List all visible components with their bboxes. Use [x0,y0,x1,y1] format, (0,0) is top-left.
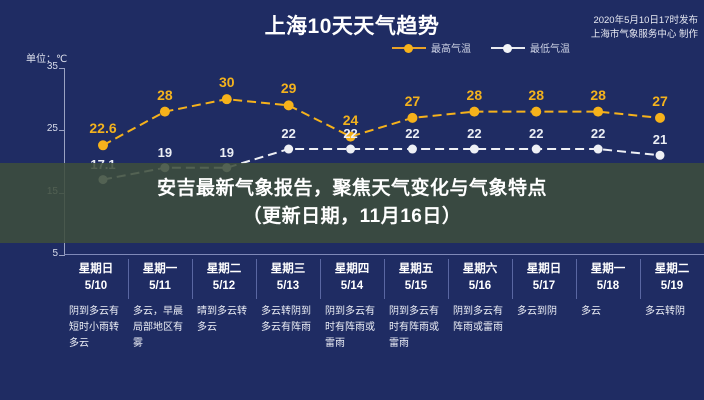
high-temp-line [103,99,660,145]
column-divider [576,259,577,299]
forecast-description: 多云转阴到多云有阵雨 [261,304,315,336]
high-temp-point [655,113,665,123]
forecast-weekday: 星期一 [133,261,187,278]
forecast-description: 多云 [581,304,635,320]
forecast-date: 5/13 [261,278,315,295]
forecast-weekday: 星期三 [261,261,315,278]
low-temp-label: 22 [343,126,357,141]
column-divider [448,259,449,299]
forecast-description: 阴到多云有短时小雨转多云 [69,304,123,352]
forecast-description: 多云，早晨局部地区有雾 [133,304,187,352]
high-temp-point [98,140,108,150]
low-temp-label: 19 [220,145,234,160]
high-temp-point [407,113,417,123]
column-divider [640,259,641,299]
high-temp-point [160,107,170,117]
forecast-description: 多云到阴 [517,304,571,320]
low-temp-label: 22 [529,126,543,141]
low-temp-point [656,151,665,160]
forecast-weekday: 星期二 [645,261,699,278]
forecast-table: 星期日5/10阴到多云有短时小雨转多云星期一5/11多云，早晨局部地区有雾星期二… [64,255,704,400]
low-temp-point [408,145,417,154]
high-temp-point [469,107,479,117]
low-temp-label: 22 [467,126,481,141]
low-temp-label: 22 [281,126,295,141]
forecast-description: 晴到多云转多云 [197,304,251,336]
forecast-description: 多云转阴 [645,304,699,320]
forecast-column[interactable]: 星期日5/10阴到多云有短时小雨转多云 [64,255,128,400]
chart-legend: 最高气温 最低气温 [392,40,570,55]
forecast-date: 5/17 [517,278,571,295]
high-temp-label: 30 [219,74,235,90]
legend-label-low: 最低气温 [530,40,570,55]
publish-info: 2020年5月10日17时发布 上海市气象服务中心 制作 [538,14,698,42]
column-divider [128,259,129,299]
forecast-column[interactable]: 星期六5/16阴到多云有阵雨或雷雨 [448,255,512,400]
forecast-column[interactable]: 星期二5/12晴到多云转多云 [192,255,256,400]
forecast-weekday: 星期六 [453,261,507,278]
weather-chart-screenshot: 上海10天天气趋势 2020年5月10日17时发布 上海市气象服务中心 制作 单… [0,0,704,400]
legend-marker-high-icon [392,43,426,53]
forecast-description: 阴到多云有时有阵雨或雷雨 [325,304,379,352]
low-temp-point [532,145,541,154]
column-divider [192,259,193,299]
high-temp-point [593,107,603,117]
forecast-weekday: 星期日 [69,261,123,278]
forecast-column[interactable]: 星期五5/15阴到多云有时有阵雨或雷雨 [384,255,448,400]
forecast-column[interactable]: 星期日5/17多云到阴 [512,255,576,400]
forecast-column[interactable]: 星期一5/18多云 [576,255,640,400]
legend-item-low: 最低气温 [491,40,570,55]
forecast-date: 5/15 [389,278,443,295]
low-temp-label: 19 [158,145,172,160]
low-temp-point [284,145,293,154]
forecast-column[interactable]: 星期四5/14阴到多云有时有阵雨或雷雨 [320,255,384,400]
publish-time: 2020年5月10日17时发布 [538,14,698,28]
forecast-column[interactable]: 星期一5/11多云，早晨局部地区有雾 [128,255,192,400]
low-temp-point [346,145,355,154]
forecast-column[interactable]: 星期二5/19多云转阴 [640,255,704,400]
forecast-date: 5/12 [197,278,251,295]
low-temp-point [594,145,603,154]
high-temp-label: 27 [652,93,668,109]
legend-marker-low-icon [491,43,525,53]
low-temp-point [470,145,479,154]
high-temp-label: 28 [467,87,483,103]
forecast-date: 5/10 [69,278,123,295]
forecast-weekday: 星期日 [517,261,571,278]
forecast-date: 5/18 [581,278,635,295]
high-temp-label: 22.6 [89,120,116,136]
forecast-date: 5/16 [453,278,507,295]
legend-label-high: 最高气温 [431,40,471,55]
column-divider [256,259,257,299]
overlay-banner: 安吉最新气象报告，聚焦天气变化与气象特点 （更新日期，11月16日） [0,163,704,243]
forecast-weekday: 星期一 [581,261,635,278]
high-temp-label: 27 [405,93,421,109]
forecast-description: 阴到多云有时有阵雨或雷雨 [389,304,443,352]
legend-item-high: 最高气温 [392,40,471,55]
forecast-column[interactable]: 星期三5/13多云转阴到多云有阵雨 [256,255,320,400]
high-temp-point [531,107,541,117]
overlay-banner-line1: 安吉最新气象报告，聚焦天气变化与气象特点 [157,175,547,203]
high-temp-label: 29 [281,80,297,96]
low-temp-label: 22 [591,126,605,141]
overlay-banner-line2: （更新日期，11月16日） [243,203,462,231]
forecast-date: 5/14 [325,278,379,295]
high-temp-label: 28 [528,87,544,103]
high-temp-point [284,100,294,110]
low-temp-label: 21 [653,132,667,147]
forecast-date: 5/19 [645,278,699,295]
column-divider [320,259,321,299]
forecast-weekday: 星期五 [389,261,443,278]
forecast-description: 阴到多云有阵雨或雷雨 [453,304,507,336]
high-temp-point [222,94,232,104]
column-divider [384,259,385,299]
column-divider [512,259,513,299]
forecast-date: 5/11 [133,278,187,295]
forecast-weekday: 星期二 [197,261,251,278]
forecast-weekday: 星期四 [325,261,379,278]
high-temp-label: 28 [590,87,606,103]
high-temp-label: 28 [157,87,173,103]
low-temp-label: 22 [405,126,419,141]
